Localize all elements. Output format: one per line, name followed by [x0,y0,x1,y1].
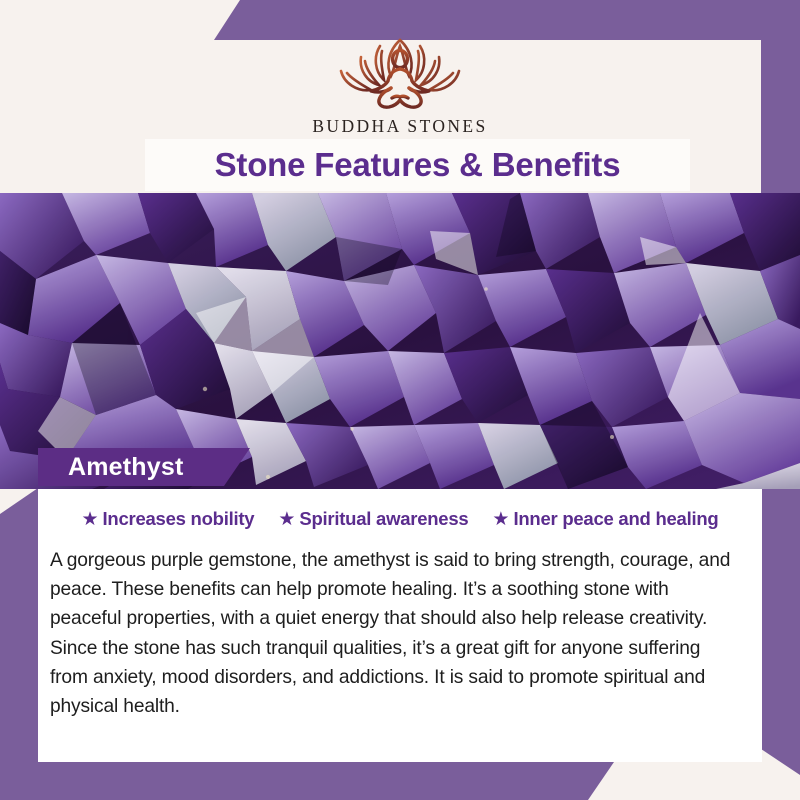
benefit-item: ★ Increases nobility [82,508,255,530]
title-plate: Stone Features & Benefits [145,139,690,191]
brand-logo: BUDDHA STONES [0,24,800,137]
benefit-label: Increases nobility [103,508,255,530]
stone-name-banner: Amethyst [38,448,250,486]
frame-band-left [0,488,38,800]
content-card: ★ Increases nobility ★ Spiritual awarene… [38,489,762,762]
promo-card: BUDDHA STONES Stone Features & Benefits [0,0,800,800]
brand-name: BUDDHA STONES [0,116,800,137]
benefit-label: Spiritual awareness [299,508,468,530]
amethyst-crystal-cluster-illustration [0,193,800,489]
star-icon: ★ [278,510,295,529]
stone-description: A gorgeous purple gemstone, the amethyst… [38,546,762,721]
lotus-meditation-icon [325,24,475,112]
header: BUDDHA STONES Stone Features & Benefits [0,0,800,195]
benefit-item: ★ Spiritual awareness [278,508,468,530]
star-icon: ★ [82,510,99,529]
stone-name: Amethyst [38,453,232,482]
benefit-item: ★ Inner peace and healing [492,508,718,530]
amethyst-photo [0,193,800,489]
benefits-list: ★ Increases nobility ★ Spiritual awarene… [38,489,762,530]
page-title: Stone Features & Benefits [215,146,621,184]
benefit-label: Inner peace and healing [513,508,718,530]
star-icon: ★ [492,510,509,529]
frame-band-bottom [0,762,614,800]
